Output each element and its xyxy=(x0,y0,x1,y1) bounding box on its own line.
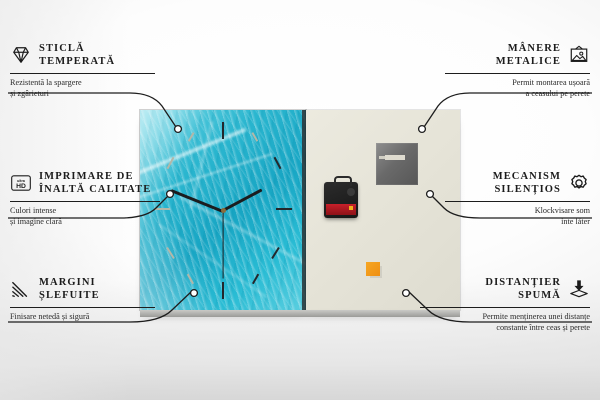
callout-title-line1: MARGINI xyxy=(39,276,100,289)
callout-title-line1: IMPRIMARE DE xyxy=(39,170,151,183)
clock-tick-4 xyxy=(271,247,280,259)
clock-tick-11 xyxy=(188,132,194,141)
callout-metal-handles: MÂNERE METALICE Permit montarea ușoară a… xyxy=(445,42,590,99)
clock-tick-12 xyxy=(222,122,224,139)
callout-sub-line1: Permit montarea ușoară xyxy=(445,78,590,89)
callout-title-line2: METALICE xyxy=(496,55,561,68)
callout-sub-line1: Culori intense xyxy=(10,206,160,217)
callout-sub-line2: a ceasului pe perete xyxy=(445,89,590,100)
callout-title-line1: DISTANȚIER xyxy=(485,276,561,289)
hanger-slot xyxy=(385,155,405,160)
product-feature-infographic: STICLĂ TEMPERATĂ Rezistentă la spargere … xyxy=(0,0,600,400)
callout-sub-line2: și zgârieturi xyxy=(10,89,155,100)
callout-title-line2: TEMPERATĂ xyxy=(39,55,115,68)
callout-polished-edges: MARGINI ȘLEFUITE Finisare netedă și sigu… xyxy=(10,276,155,323)
clock-tick-6 xyxy=(222,282,224,299)
metal-hanger-plate xyxy=(376,143,418,185)
picture-hanger-icon xyxy=(568,45,590,65)
callout-title-line1: MÂNERE xyxy=(496,42,561,55)
callout-rule xyxy=(420,307,590,308)
clock-tick-2 xyxy=(274,157,282,169)
hatch-lines-icon xyxy=(10,279,32,299)
clock-tick-3 xyxy=(276,208,292,210)
callout-sub-line1: Finisare netedă și sigură xyxy=(10,312,155,323)
svg-text:ultra: ultra xyxy=(17,179,25,183)
press-down-pad-icon xyxy=(568,279,590,299)
clock-bottom-edge xyxy=(140,310,460,317)
battery xyxy=(326,204,356,215)
callout-rule xyxy=(10,201,160,202)
callout-tempered-glass: STICLĂ TEMPERATĂ Rezistentă la spargere … xyxy=(10,42,155,99)
callout-sub-line2: inte låter xyxy=(445,217,590,228)
mechanism-dial xyxy=(347,188,355,196)
diamond-icon xyxy=(10,45,32,65)
callout-silent-mechanism: MECANISM SILENȚIOS Klockvisare som inte … xyxy=(445,170,590,227)
ultra-hd-icon: ultra HD xyxy=(10,173,32,193)
callout-title-line2: ÎNALTĂ CALITATE xyxy=(39,183,151,196)
clock-minute-hand xyxy=(171,189,224,213)
callout-rule xyxy=(445,73,590,74)
clock-tick-8 xyxy=(166,247,175,259)
callout-high-quality-print: ultra HD IMPRIMARE DE ÎNALTĂ CALITATE Cu… xyxy=(10,170,160,227)
callout-rule xyxy=(445,201,590,202)
callout-title-line2: SPUMĂ xyxy=(485,289,561,302)
callout-title-line1: MECANISM xyxy=(493,170,561,183)
clock-tick-5 xyxy=(252,274,259,284)
foam-spacer-pad xyxy=(366,262,380,276)
callout-sub-line1: Rezistentă la spargere xyxy=(10,78,155,89)
gear-icon xyxy=(568,173,590,193)
callout-title-line1: STICLĂ xyxy=(39,42,115,55)
clock-tick-1 xyxy=(252,132,258,141)
mechanism-bail xyxy=(334,176,352,186)
callout-foam-spacer: DISTANȚIER SPUMĂ Permite menținerea unei… xyxy=(420,276,590,333)
clock-second-hand xyxy=(222,211,223,279)
callout-rule xyxy=(10,307,155,308)
callout-sub-line1: Klockvisare som xyxy=(445,206,590,217)
callout-title-line2: ȘLEFUITE xyxy=(39,289,100,302)
clock-tick-7 xyxy=(187,274,194,284)
clock-front-face xyxy=(140,110,306,310)
feather-streak xyxy=(178,195,306,268)
callout-sub-line2: constante între ceas și perete xyxy=(420,323,590,334)
callout-rule xyxy=(10,73,155,74)
clock-center-hub xyxy=(221,208,226,213)
svg-text:HD: HD xyxy=(16,183,26,190)
callout-sub-line1: Permite menținerea unei distanțe xyxy=(420,312,590,323)
quartz-mechanism xyxy=(324,182,358,218)
clock-hour-hand xyxy=(222,189,262,213)
product-image xyxy=(140,110,460,322)
callout-title-line2: SILENȚIOS xyxy=(493,183,561,196)
callout-sub-line2: și imagine clară xyxy=(10,217,160,228)
